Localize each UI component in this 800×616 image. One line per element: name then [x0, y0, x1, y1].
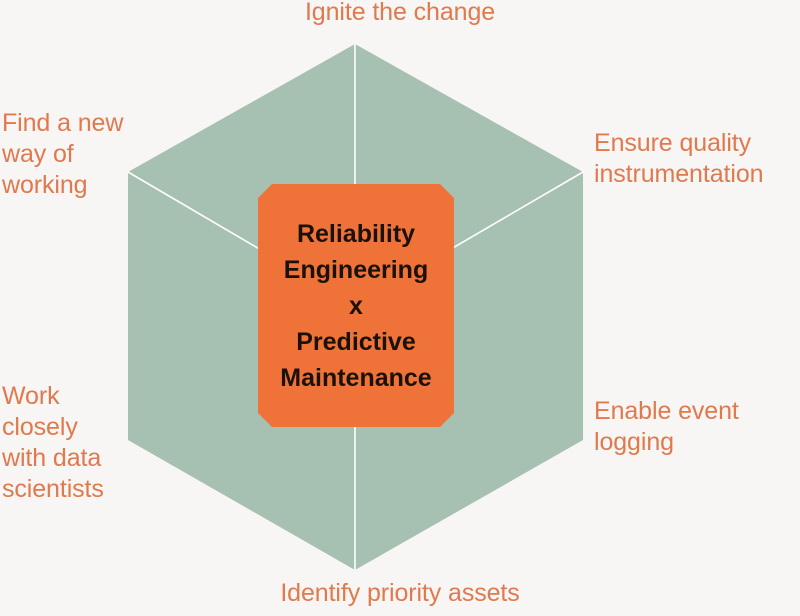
- label-ensure-quality-instrumentation: Ensure quality instrumentation: [594, 128, 800, 190]
- label-enable-event-logging: Enable event logging: [594, 396, 800, 458]
- center-callout-text: Reliability Engineering x Predictive Mai…: [274, 216, 437, 396]
- label-identify-priority-assets: Identify priority assets: [0, 578, 800, 609]
- label-find-a-new-way-of-working: Find a new way of working: [2, 108, 170, 201]
- label-work-closely-with-data-scientists: Work closely with data scientists: [2, 381, 170, 505]
- diagram-canvas: Reliability Engineering x Predictive Mai…: [0, 0, 800, 616]
- center-callout-box: Reliability Engineering x Predictive Mai…: [258, 184, 454, 427]
- label-ignite-the-change: Ignite the change: [0, 0, 800, 28]
